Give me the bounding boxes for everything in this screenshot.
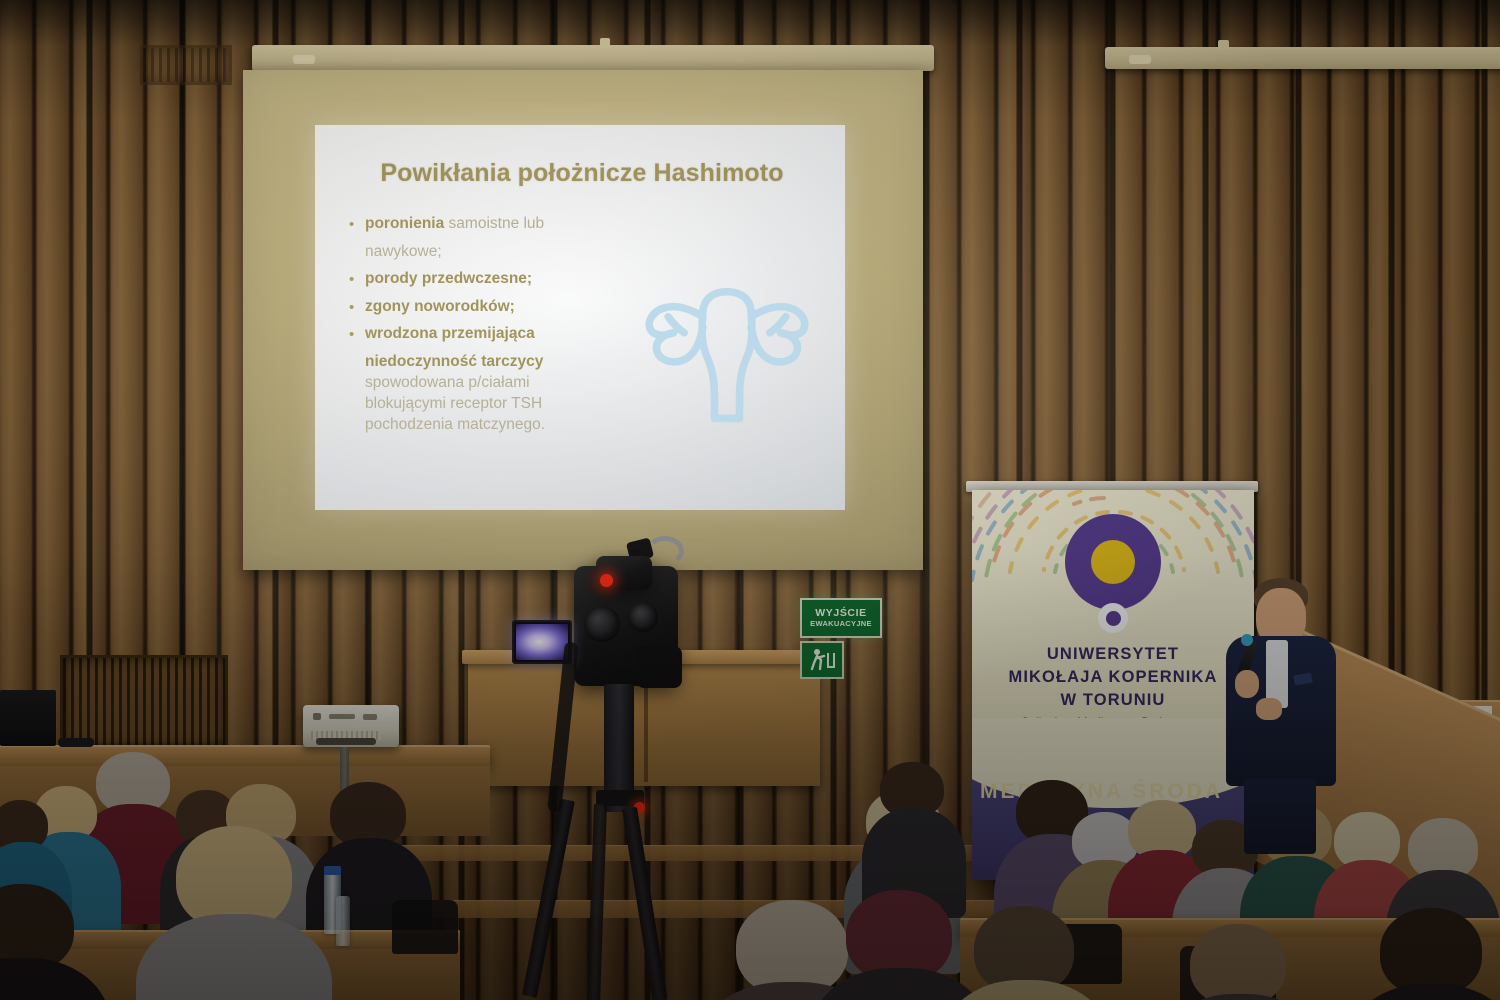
screen-case-bracket bbox=[1218, 40, 1229, 49]
exit-sign-line2: EWAKUACYJNE bbox=[810, 619, 872, 628]
banner-university-line-3: W TORUNIU bbox=[972, 691, 1254, 710]
bullet-strong: zgony noworodków; bbox=[365, 298, 515, 315]
bullet-tail-1: spowodowana p/ciałami bbox=[365, 373, 627, 394]
speaker bbox=[1222, 578, 1340, 850]
projected-slide: Powikłania położnicze Hashimoto bbox=[315, 125, 845, 510]
wall-vent-grille bbox=[60, 655, 228, 750]
list-item: • porody przedwczesne; bbox=[349, 269, 815, 290]
banner-event-title: MEDYCYNA ŚRODA bbox=[980, 780, 1223, 804]
list-item: • wrodzona przemijająca bbox=[349, 324, 815, 345]
logo-inner-dot bbox=[1091, 540, 1135, 584]
bullet-tail-3: pochodzenia matczynego. bbox=[365, 415, 627, 436]
speaker-hand-holding-mic bbox=[1235, 670, 1259, 698]
ceiling-shadow bbox=[0, 0, 1500, 46]
projection-screen-case bbox=[252, 45, 934, 71]
bullet-marker: • bbox=[349, 269, 365, 290]
slide-bullet-list: • poronienia samoistne lub nawykowe; • p… bbox=[349, 214, 815, 436]
projection-screen-surface: Powikłania położnicze Hashimoto bbox=[243, 70, 923, 570]
bullet-strong-line2: niedoczynność tarczycy bbox=[365, 352, 627, 373]
rolled-up-projection-screen bbox=[1105, 47, 1500, 69]
water-bottle-cap bbox=[324, 866, 341, 875]
bullet-rest: samoistne lub bbox=[444, 215, 544, 232]
banner-university-line-2: MIKOŁAJA KOPERNIKA bbox=[972, 668, 1254, 687]
projector-ports-row bbox=[329, 714, 355, 719]
bullet-marker: • bbox=[349, 297, 365, 318]
camera-monitor-screen bbox=[516, 624, 568, 660]
lecture-hall-photo: Powikłania położnicze Hashimoto bbox=[0, 0, 1500, 1000]
logo-small-circle bbox=[1098, 603, 1128, 633]
wall-vent-grille-upper bbox=[140, 45, 232, 85]
camera-tally-light bbox=[600, 574, 613, 587]
banner-upper-cream: UNIWERSYTET MIKOŁAJA KOPERNIKA W TORUNIU… bbox=[972, 490, 1254, 732]
slide-title: Powikłania położnicze Hashimoto bbox=[349, 151, 815, 188]
stage-step-lower bbox=[380, 900, 1080, 918]
list-item: • poronienia samoistne lub bbox=[349, 214, 815, 235]
bullet-text: porody przedwczesne; bbox=[365, 269, 532, 290]
bullet-text: wrodzona przemijająca bbox=[365, 324, 535, 345]
bullet-marker: • bbox=[349, 214, 365, 235]
front-desk-surface bbox=[0, 745, 490, 767]
bullet-marker: • bbox=[349, 324, 365, 345]
bullet-strong: wrodzona przemijająca bbox=[365, 325, 535, 342]
camera-secondary-lens bbox=[628, 602, 658, 632]
emergency-exit-sign: WYJŚCIE EWAKUACYJNE bbox=[800, 598, 882, 638]
list-item: • zgony noworodków; bbox=[349, 297, 815, 318]
projector-port bbox=[313, 713, 321, 720]
bullet-continuation: nawykowe; bbox=[365, 242, 627, 263]
projector-mount-plate bbox=[316, 738, 376, 745]
bullet-strong: porody przedwczesne; bbox=[365, 270, 532, 287]
screen-case-bracket-center bbox=[600, 38, 610, 47]
banner-university-line-1: UNIWERSYTET bbox=[972, 645, 1254, 664]
speaker-other-hand bbox=[1256, 698, 1282, 720]
bullet-text: zgony noworodków; bbox=[365, 297, 515, 318]
bullet-text: poronienia samoistne lub bbox=[365, 214, 544, 235]
bullet-strong: poronienia bbox=[365, 215, 444, 232]
exit-sign-line1: WYJŚCIE bbox=[815, 608, 866, 619]
camera-side-grip bbox=[636, 646, 682, 688]
projector-connector bbox=[363, 714, 377, 720]
camera-lens bbox=[584, 606, 620, 642]
chair-back bbox=[392, 900, 458, 954]
laptop-mouse bbox=[58, 738, 94, 747]
presenter-laptop bbox=[0, 690, 56, 746]
water-bottle bbox=[336, 896, 350, 946]
bullet-tail-2: blokującymi receptor TSH bbox=[365, 394, 627, 415]
speaker-trousers bbox=[1244, 778, 1316, 854]
exit-pictogram-icon bbox=[800, 641, 844, 679]
